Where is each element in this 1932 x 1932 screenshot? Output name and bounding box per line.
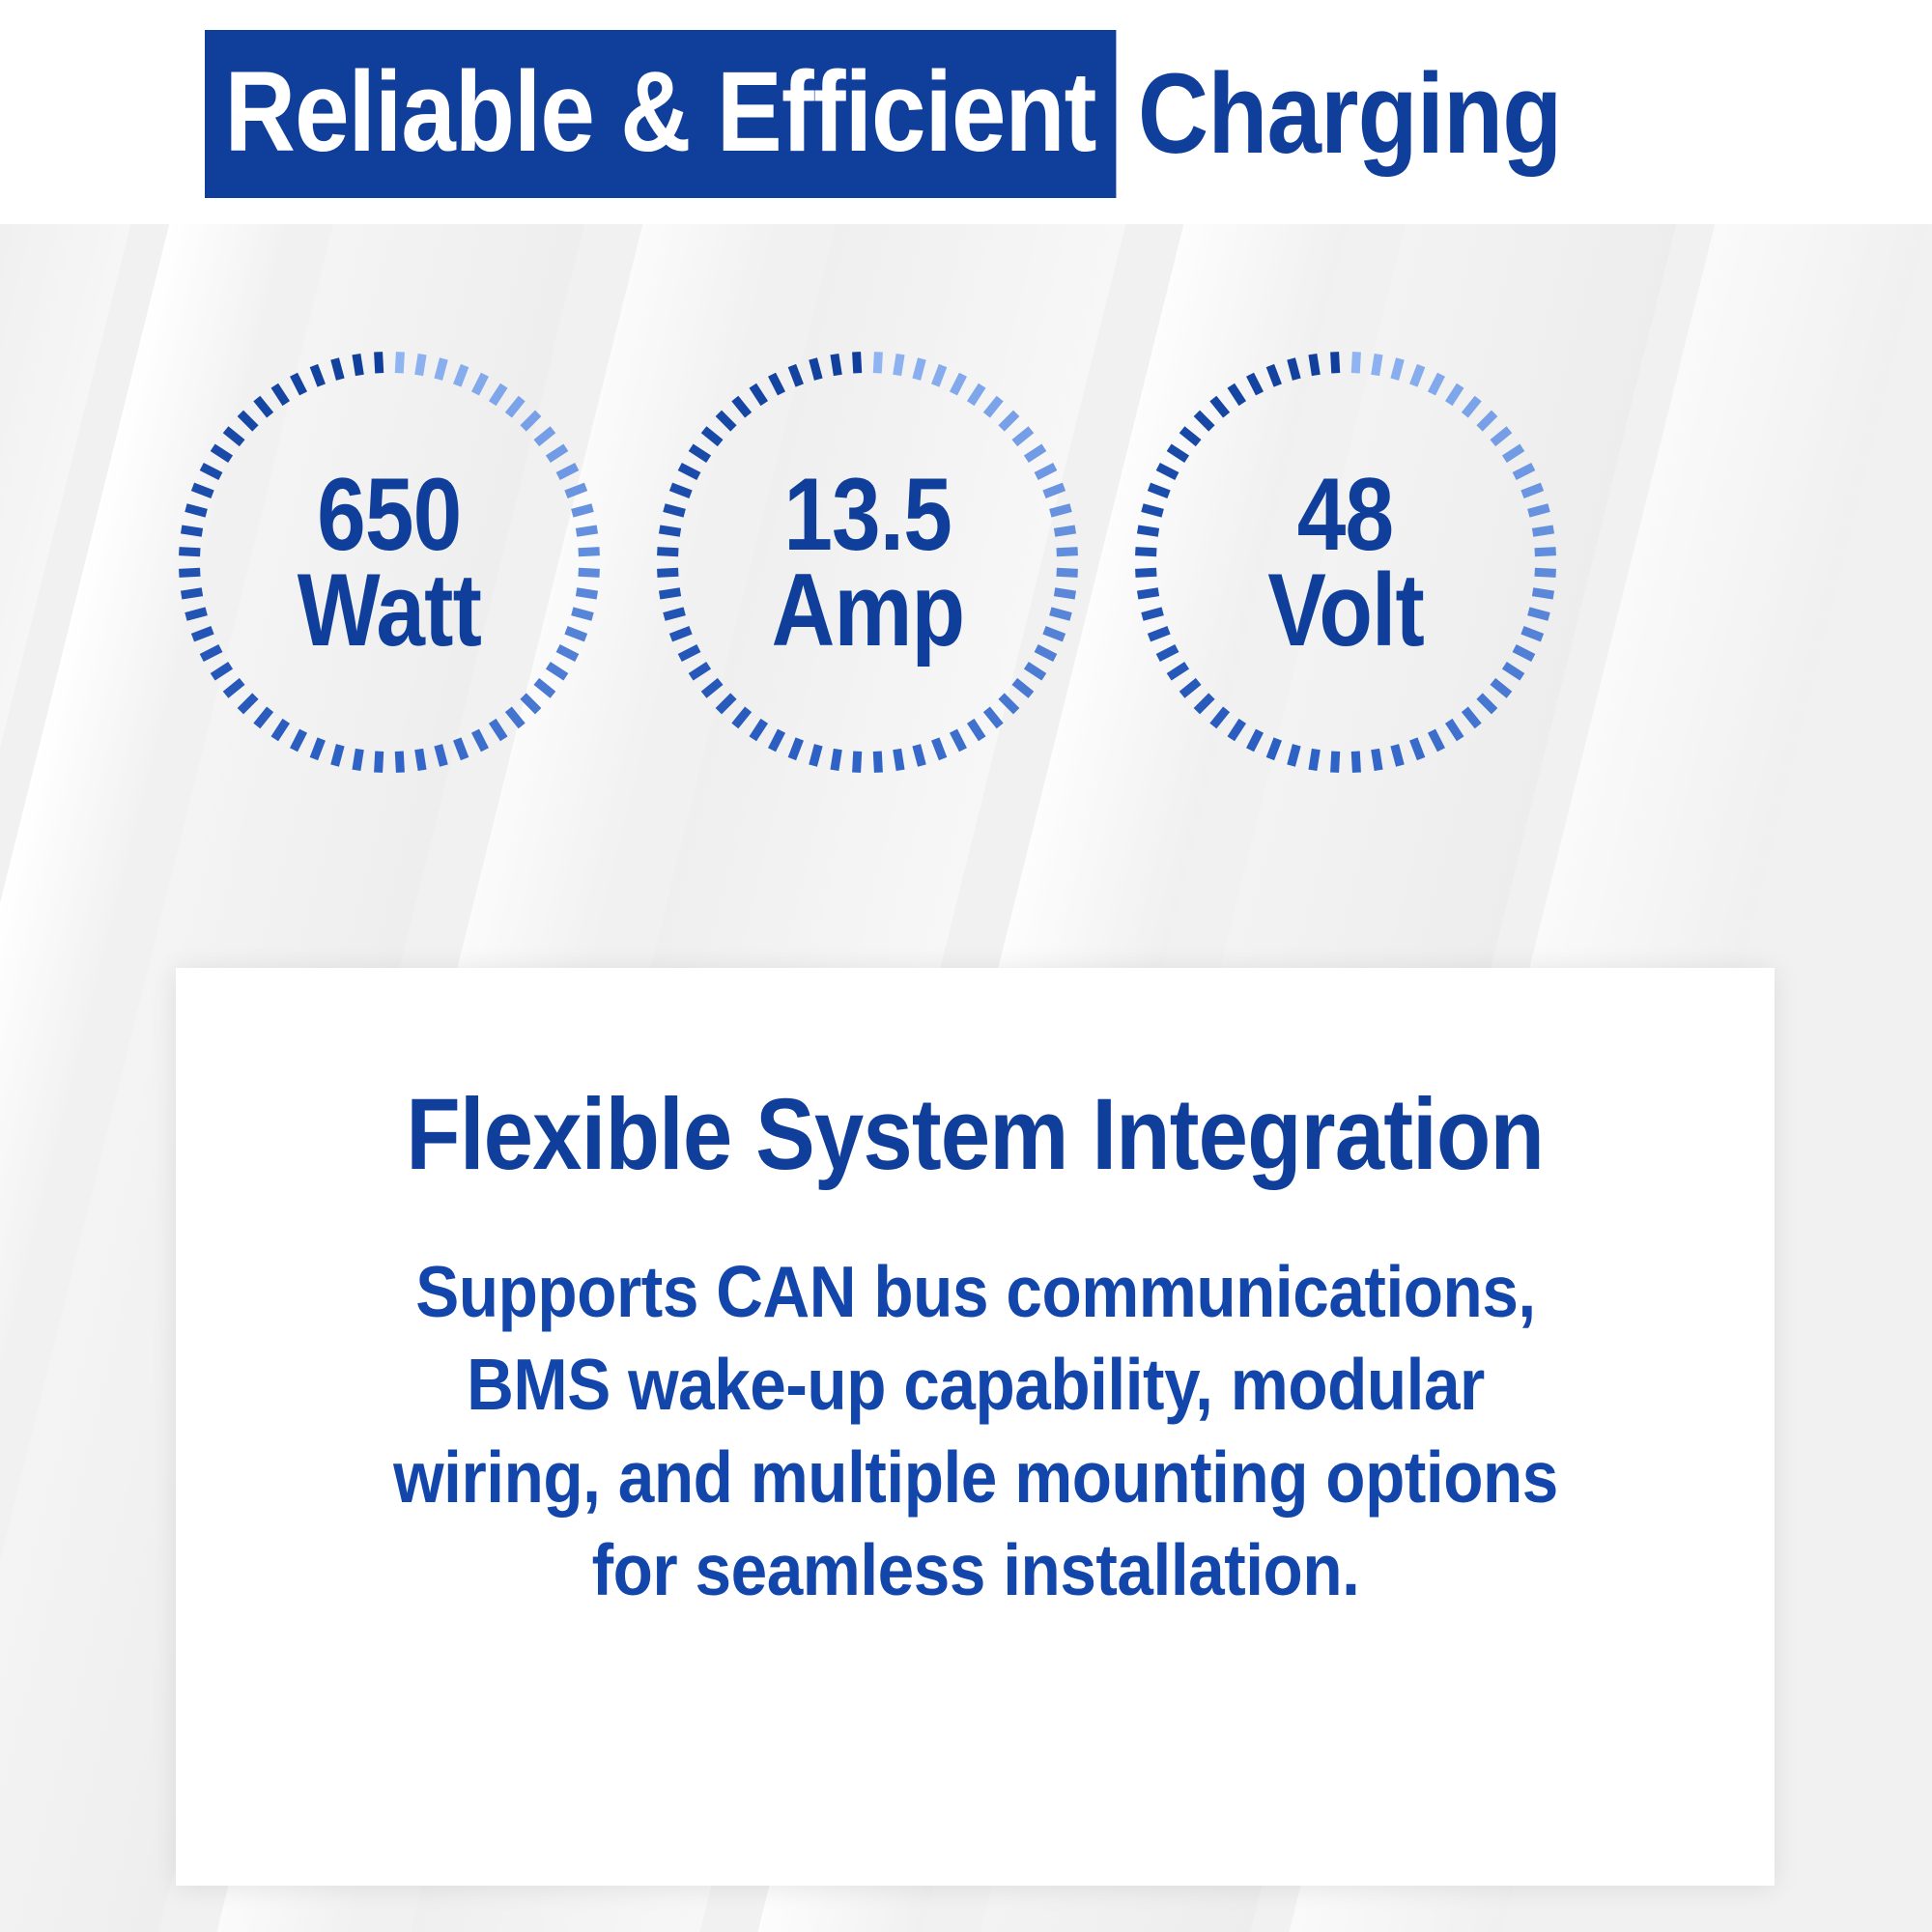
info-card: Flexible System Integration Supports CAN… — [176, 968, 1775, 1886]
spec-gauge-row: 650 Watt 13.5 Amp 48 Volt — [0, 340, 1932, 823]
header-band: Reliable & Efficient Charging — [0, 0, 1932, 224]
page-title: Reliable & Efficient Charging — [205, 37, 1634, 191]
gauge-label-power: 650 Watt — [167, 340, 611, 784]
gauge-current: 13.5 Amp — [645, 340, 1090, 784]
gauge-power: 650 Watt — [167, 340, 611, 784]
gauge-unit: Watt — [298, 562, 481, 659]
gauge-unit: Volt — [1267, 562, 1424, 659]
title-rest: Charging — [1120, 57, 1561, 171]
gauge-unit: Amp — [771, 562, 964, 659]
gauge-value: 48 — [1297, 467, 1393, 563]
card-heading: Flexible System Integration — [407, 1084, 1545, 1185]
gauge-voltage: 48 Volt — [1123, 340, 1568, 784]
gauge-value: 650 — [317, 467, 461, 563]
infographic-page: Reliable & Efficient Charging 650 Watt 1… — [0, 0, 1932, 1932]
card-body-text: Supports CAN bus communications, BMS wak… — [358, 1245, 1593, 1616]
gauge-value: 13.5 — [783, 467, 952, 563]
gauge-label-voltage: 48 Volt — [1123, 340, 1568, 784]
title-highlight: Reliable & Efficient — [205, 30, 1116, 198]
gauge-label-current: 13.5 Amp — [645, 340, 1090, 784]
